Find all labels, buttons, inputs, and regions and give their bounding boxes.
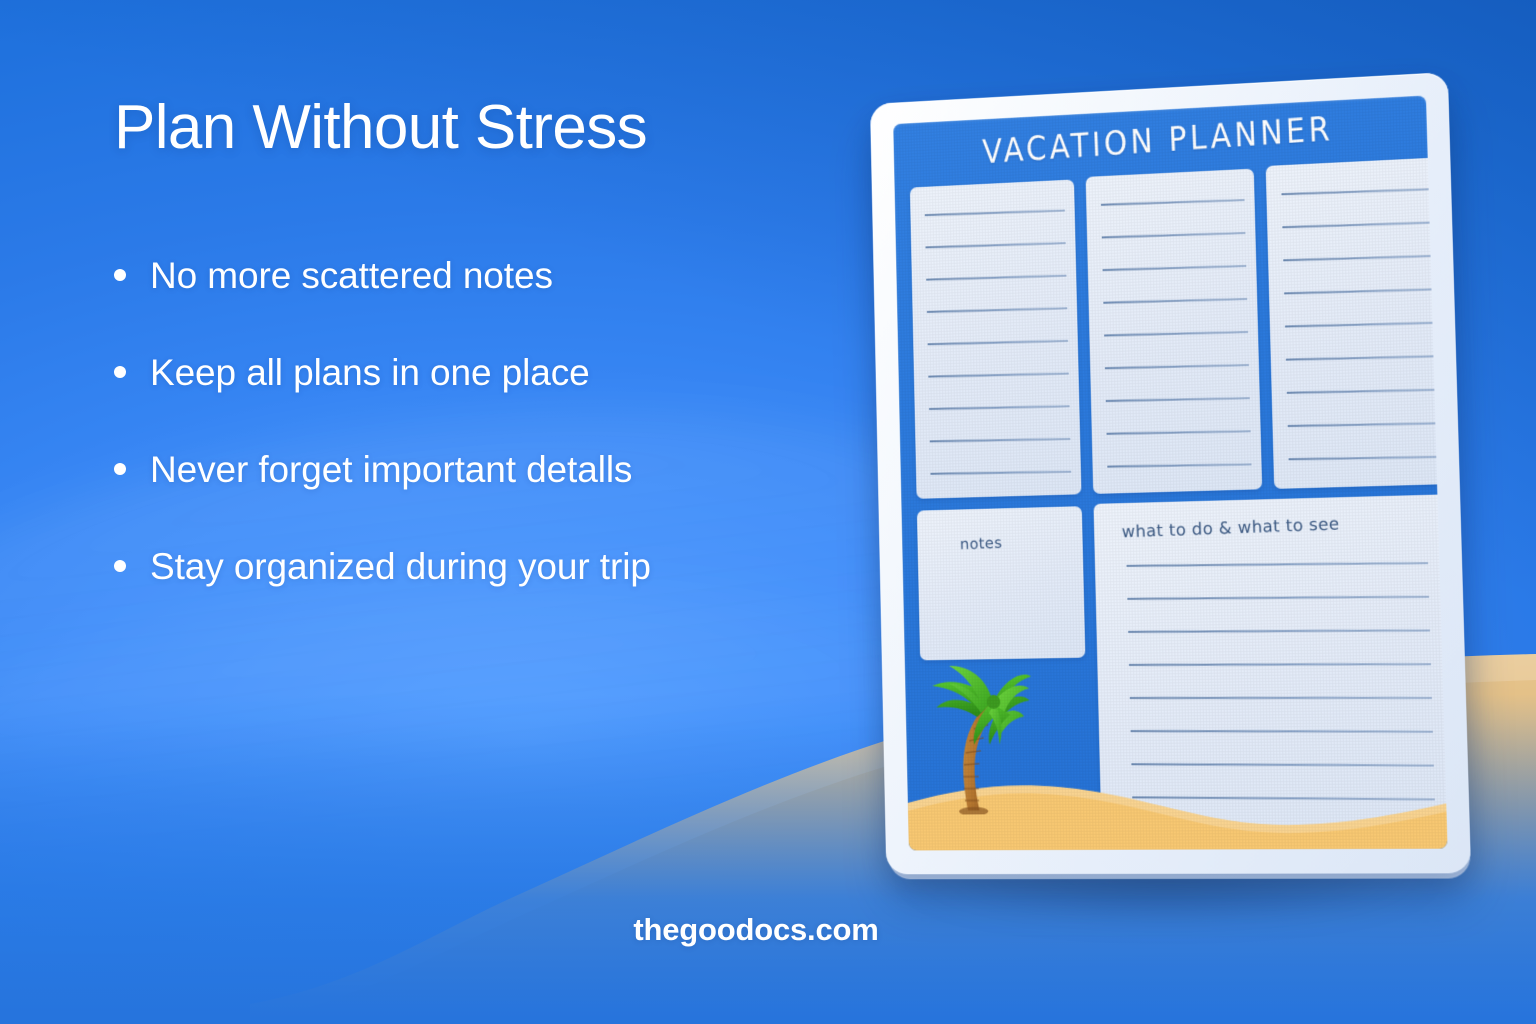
rule-line <box>927 307 1067 312</box>
list-item-label: No more scattered notes <box>150 256 553 297</box>
planner-notes-box[interactable]: notes <box>917 506 1085 660</box>
planner-todo-box[interactable]: what to do & what to see <box>1093 494 1447 831</box>
rule-line <box>1104 331 1247 336</box>
rule-line <box>929 405 1069 409</box>
rule-line <box>926 242 1066 248</box>
list-item: Never forget important detalls <box>114 450 874 491</box>
rule-line <box>1105 364 1248 369</box>
footer-watermark: thegoodocs.com <box>0 912 1536 948</box>
rule-lines <box>1086 169 1263 494</box>
card-front-face: VACATION PLANNER notes <box>870 72 1471 874</box>
rule-line <box>1286 355 1433 360</box>
rule-line <box>925 209 1065 215</box>
list-item-label: Never forget important detalls <box>150 450 632 491</box>
palm-tree-icon <box>922 665 1034 815</box>
rule-line <box>1102 232 1245 238</box>
rule-line <box>1129 663 1431 665</box>
rule-line <box>1107 430 1251 434</box>
rule-line <box>927 275 1067 281</box>
rule-line <box>1126 562 1428 566</box>
notes-label: notes <box>960 534 1003 553</box>
slide-canvas: Plan Without Stress No more scattered no… <box>0 0 1536 1024</box>
rule-line <box>1130 730 1432 732</box>
benefit-list: No more scattered notes Keep all plans i… <box>114 256 874 587</box>
rule-lines <box>910 179 1082 498</box>
card-3d-wrapper: VACATION PLANNER notes <box>870 72 1471 874</box>
rule-line <box>1108 463 1252 467</box>
rule-line <box>1284 288 1431 294</box>
list-item-label: Stay organized during your trip <box>150 547 651 588</box>
rule-line <box>1127 596 1429 600</box>
rule-line <box>929 372 1069 377</box>
planner-title: VACATION PLANNER <box>893 103 1427 178</box>
planner-column-2[interactable] <box>1086 169 1263 494</box>
footer-label: thegoodocs.com <box>633 912 878 948</box>
bullet-dot-icon <box>114 269 126 281</box>
rule-line <box>1128 629 1430 632</box>
rule-line <box>1106 397 1250 401</box>
rule-line <box>1129 697 1431 699</box>
copy-block: Plan Without Stress No more scattered no… <box>114 96 874 587</box>
list-item: Keep all plans in one place <box>114 353 874 394</box>
planner-sheet: VACATION PLANNER notes <box>893 95 1447 850</box>
planner-column-1[interactable] <box>910 179 1082 498</box>
rule-line <box>1132 796 1435 799</box>
list-item: No more scattered notes <box>114 256 874 297</box>
list-item-label: Keep all plans in one place <box>150 353 590 394</box>
rule-line <box>1285 322 1432 327</box>
vacation-planner-card: VACATION PLANNER notes <box>862 86 1482 886</box>
page-title: Plan Without Stress <box>114 96 874 160</box>
bullet-dot-icon <box>114 366 126 378</box>
rule-line <box>1289 456 1436 460</box>
rule-line <box>1288 422 1435 426</box>
rule-line <box>1104 298 1247 303</box>
rule-line <box>1287 389 1434 394</box>
rule-lines <box>1266 157 1448 488</box>
rule-line <box>1283 222 1430 228</box>
rule-line <box>928 340 1068 345</box>
rule-line <box>1101 199 1244 205</box>
rule-line <box>1131 763 1434 766</box>
rule-line <box>1284 255 1431 261</box>
rule-line <box>931 471 1071 475</box>
rule-lines <box>1093 494 1447 831</box>
rule-line <box>1282 188 1429 195</box>
bullet-dot-icon <box>114 463 126 475</box>
planner-column-3[interactable] <box>1266 157 1448 488</box>
rule-line <box>930 438 1070 442</box>
bullet-dot-icon <box>114 560 126 572</box>
rule-line <box>1103 265 1246 271</box>
list-item: Stay organized during your trip <box>114 547 874 588</box>
